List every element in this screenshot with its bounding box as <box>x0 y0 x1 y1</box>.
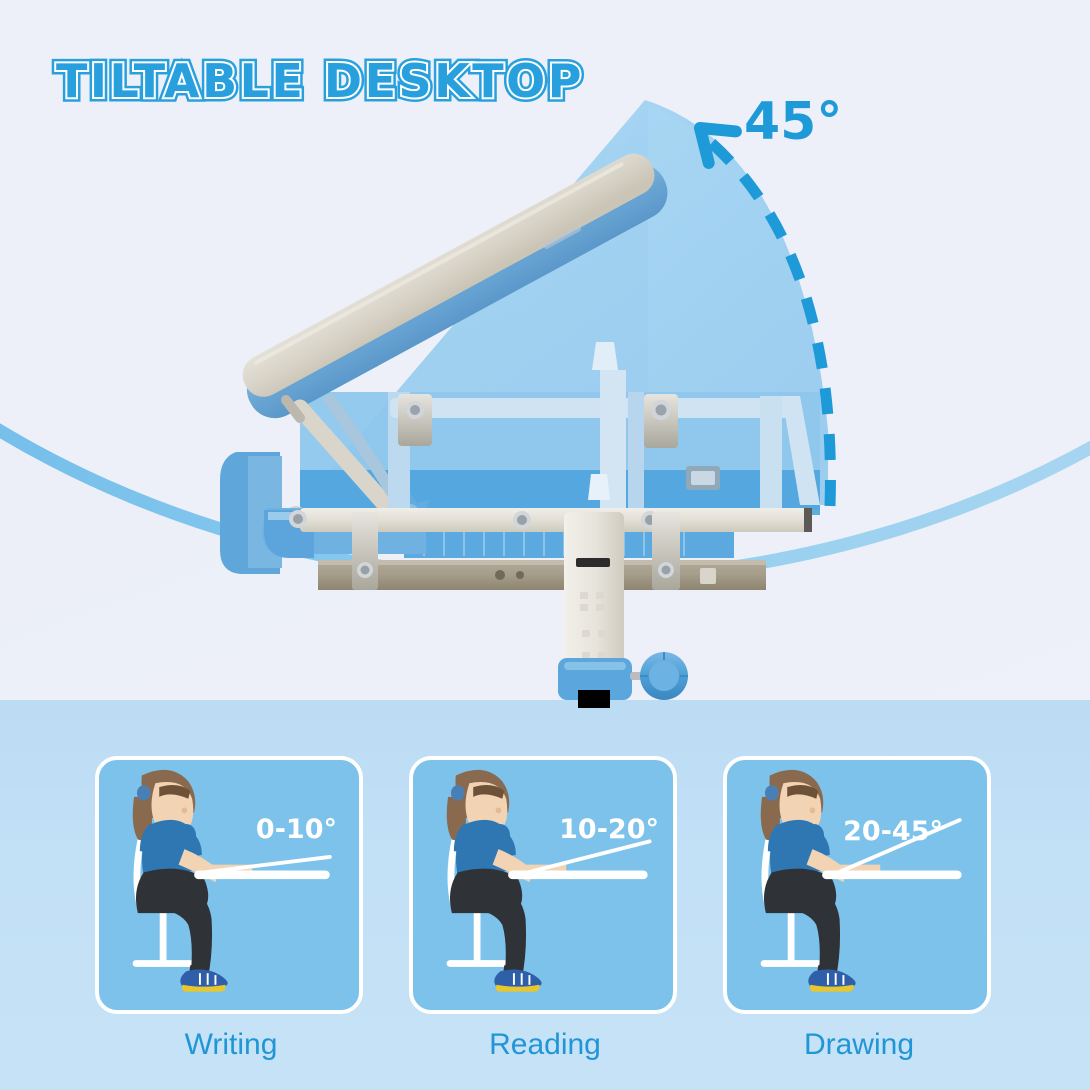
page-title: TILTABLE DESKTOP <box>56 54 584 108</box>
shoe <box>180 969 227 991</box>
posture-card-image: 0-10° <box>95 756 363 1014</box>
seated-person-illustration-writing <box>99 760 359 1010</box>
posture-card-label: Reading <box>409 1028 681 1062</box>
person <box>133 770 253 992</box>
tilt-angle-label: 10-20° <box>559 814 659 845</box>
person <box>447 770 567 992</box>
seated-person-illustration-drawing <box>727 760 987 1010</box>
posture-card-image: 20-45° <box>723 756 991 1014</box>
tilt-angle-label: 0-10° <box>256 814 337 845</box>
product-illustration <box>0 0 1090 760</box>
seated-person-illustration-reading <box>413 760 673 1010</box>
posture-card-image: 10-20° <box>409 756 677 1014</box>
posture-card-writing[interactable]: 0-10° Writing <box>95 756 367 1090</box>
angle-callout-45: 45° <box>744 92 842 152</box>
shoe <box>808 969 855 991</box>
product-feature-image: TILTABLE DESKTOP TILTABLE DESKTOP 45° <box>0 0 1090 1090</box>
posture-card-reading[interactable]: 10-20° Reading <box>409 756 681 1090</box>
height-adjust-knob[interactable] <box>640 652 688 700</box>
person <box>761 770 881 992</box>
posture-cards: 0-10° Writing <box>0 756 1090 1090</box>
shoe <box>494 969 541 991</box>
posture-card-drawing[interactable]: 20-45° Drawing <box>723 756 995 1090</box>
desk-lower-rail <box>318 560 766 590</box>
tilt-angle-label: 20-45° <box>843 816 943 847</box>
desk-surface-indicator <box>508 841 649 879</box>
posture-card-label: Drawing <box>723 1028 995 1062</box>
posture-card-label: Writing <box>95 1028 367 1062</box>
